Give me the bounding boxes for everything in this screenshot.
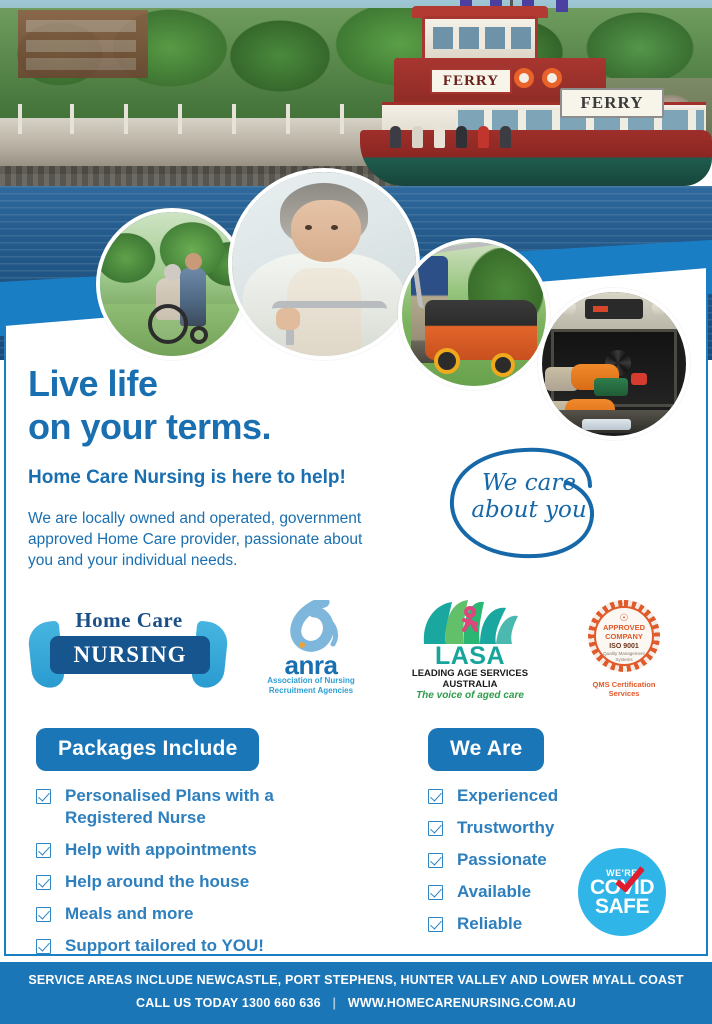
home-care-nursing-logo: Home Care NURSING: [30, 604, 226, 696]
lasa-tagline: The voice of aged care: [400, 690, 540, 701]
lasa-fan-icon: [418, 598, 522, 644]
list-item: Personalised Plans with a Registered Nur…: [36, 785, 366, 829]
qms-system-line-2: Systems: [615, 657, 632, 662]
qms-iso-standard: ISO 9001: [596, 643, 652, 650]
footer-bar: SERVICE AREAS INCLUDE NEWCASTLE, PORT ST…: [0, 962, 712, 1024]
lasa-logo: LASA LEADING AGE SERVICES AUSTRALIA The …: [400, 598, 540, 704]
checkbox-checked-icon: [36, 789, 51, 804]
list-item: Help with appointments: [36, 839, 366, 861]
checkbox-checked-icon: [36, 843, 51, 858]
headline-line-1: Live life: [28, 362, 448, 405]
body-paragraph: We are locally owned and operated, gover…: [28, 508, 368, 571]
checkbox-checked-icon: [428, 853, 443, 868]
flyer-page: FERRY FERRY: [0, 0, 712, 1024]
we-are-heading: We Are: [428, 728, 544, 771]
subheadline: Home Care Nursing is here to help!: [28, 465, 448, 491]
list-item: Meals and more: [36, 903, 366, 925]
list-item-label: Experienced: [457, 785, 558, 807]
qms-certification-logo: ☉ APPROVED COMPANY ISO 9001 Quality Mana…: [578, 600, 670, 700]
covid-safe-badge: WE'RE COVID SAFE: [578, 848, 666, 936]
anra-sub-line-2: Recruitment Agencies: [269, 686, 353, 695]
list-item: Trustworthy: [428, 817, 698, 839]
footer-phone[interactable]: CALL US TODAY 1300 660 636: [136, 996, 321, 1010]
qms-system-text: Quality Management Systems: [596, 651, 652, 662]
we-care-text: We care about you: [464, 470, 594, 524]
lasa-subtitle: LEADING AGE SERVICES AUSTRALIA: [400, 668, 540, 690]
list-item-label: Help with appointments: [65, 839, 257, 861]
anra-droplet-icon: [280, 600, 342, 652]
page-title: Live life on your terms.: [28, 362, 448, 448]
checkbox-checked-icon: [428, 789, 443, 804]
qms-approved-text: APPROVED COMPANY: [596, 624, 652, 641]
anra-sub-line-1: Association of Nursing: [267, 676, 355, 685]
qms-system-line-1: Quality Management: [603, 651, 645, 656]
accreditation-logo-row: Home Care NURSING anra Association of Nu…: [0, 596, 712, 708]
list-item: Help around the house: [36, 871, 366, 893]
lasa-sub-line-1: LEADING AGE SERVICES: [412, 668, 528, 679]
footer-separator: |: [324, 996, 344, 1010]
footer-service-areas: SERVICE AREAS INCLUDE NEWCASTLE, PORT ST…: [0, 962, 712, 987]
hcn-nursing-text: NURSING: [50, 636, 210, 674]
list-item: Support tailored to YOU!: [36, 935, 366, 957]
list-item-label: Passionate: [457, 849, 547, 871]
checkbox-checked-icon: [36, 907, 51, 922]
qms-seal-icon: ☉ APPROVED COMPANY ISO 9001 Quality Mana…: [588, 600, 660, 672]
list-item-label: Support tailored to YOU!: [65, 935, 264, 957]
packages-include-list: Personalised Plans with a Registered Nur…: [36, 785, 366, 957]
list-item-label: Help around the house: [65, 871, 249, 893]
checkbox-checked-icon: [36, 939, 51, 954]
footer-website[interactable]: WWW.HOMECARENURSING.COM.AU: [348, 996, 576, 1010]
content-layer: Live life on your terms. Home Care Nursi…: [0, 0, 712, 1024]
we-care-about-you-badge: We care about you: [440, 444, 610, 574]
qms-approved-line-2: COMPANY: [605, 632, 643, 641]
checkbox-checked-icon: [36, 875, 51, 890]
lasa-wordmark: LASA: [400, 642, 540, 671]
checkbox-checked-icon: [428, 821, 443, 836]
hcn-nursing-pill: NURSING: [50, 636, 210, 674]
checkbox-checked-icon: [428, 885, 443, 900]
checkbox-checked-icon: [428, 917, 443, 932]
covid-line-2: SAFE: [578, 897, 666, 917]
list-item-label: Reliable: [457, 913, 522, 935]
packages-include-heading: Packages Include: [36, 728, 259, 771]
lasa-sub-line-2: AUSTRALIA: [443, 679, 498, 690]
packages-include-section: Packages Include Personalised Plans with…: [36, 728, 366, 967]
qms-seal-inner: ☉ APPROVED COMPANY ISO 9001 Quality Mana…: [594, 606, 654, 666]
list-item-label: Personalised Plans with a Registered Nur…: [65, 785, 366, 829]
anra-subtitle: Association of Nursing Recruitment Agenc…: [256, 676, 366, 696]
care-line-2: about you: [471, 497, 586, 523]
list-item-label: Available: [457, 881, 531, 903]
care-line-1: We care: [482, 470, 576, 496]
list-item-label: Trustworthy: [457, 817, 554, 839]
footer-contact-line: CALL US TODAY 1300 660 636 | WWW.HOMECAR…: [0, 987, 712, 1010]
headline-line-2: on your terms.: [28, 405, 448, 448]
list-item-label: Meals and more: [65, 903, 194, 925]
hcn-wordmark: Home Care: [54, 608, 204, 633]
qms-caption: QMS Certification Services: [578, 680, 670, 698]
list-item: Experienced: [428, 785, 698, 807]
anra-logo: anra Association of Nursing Recruitment …: [256, 600, 366, 702]
